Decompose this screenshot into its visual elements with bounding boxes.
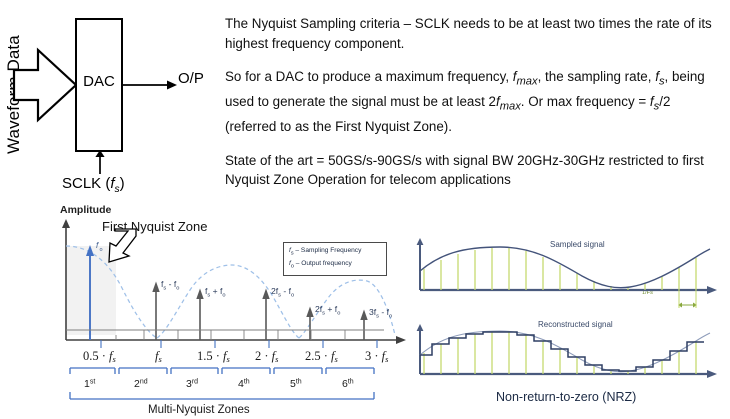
- zone-label-4: 4th: [238, 378, 250, 390]
- paragraph-dac-max-frequency: So for a DAC to produce a maximum freque…: [225, 67, 725, 137]
- reconstructed-ideal-sine: [420, 331, 710, 372]
- multi-nyquist-zone-chart: Amplitude First Nyquist Zone fs – Sampli…: [40, 202, 415, 419]
- spike-label-2fs-plus-fo: 2fs + fo: [315, 304, 340, 316]
- sclk-text: SCLK (: [62, 175, 110, 192]
- spike-label-2fs-minus-fo: 2fs - fo: [271, 286, 294, 298]
- callout-arrow-icon: [109, 229, 136, 262]
- zone-label-5: 5th: [290, 378, 302, 390]
- reconstructed-signal-panel: Reconstructed signal Non-return-to-zero …: [410, 312, 730, 419]
- p2-fmax-sub: max: [517, 76, 538, 88]
- p2-seg-d: . Or max frequency =: [521, 94, 650, 109]
- zone-ordinal-labels: 1st 2nd 3rd 4th 5th 6th: [84, 378, 354, 390]
- zone-brackets: [70, 368, 374, 374]
- x-axis-tick-labels: 0.5 · fs fs 1.5 · fs 2 · fs 2.5 · fs 3 ·…: [83, 349, 389, 364]
- sampled-signal-plot: [410, 228, 730, 323]
- sample-period-bracket: [678, 290, 697, 308]
- spike-2fs-minus-fo: [262, 289, 269, 341]
- tick-label-5: 3 · fs: [365, 349, 389, 364]
- zone-label-2: 2nd: [134, 378, 148, 390]
- zone-boundary-lines: [116, 330, 345, 340]
- tick-label-4: 2.5 · fs: [305, 349, 339, 364]
- y-axis-arrowhead-icon: [62, 219, 70, 228]
- sampled-y-arrowhead-icon: [417, 238, 424, 245]
- spike-fs-minus-fo: [152, 282, 159, 341]
- sample-lines: [424, 248, 696, 290]
- output-label: O/P: [178, 70, 204, 87]
- sampled-signal-panel: Sampled signal 1/Fs: [410, 228, 730, 323]
- spike-label-3fs-minus-fo: 3fs - fo: [369, 307, 392, 319]
- x-axis-arrowhead-icon: [396, 336, 406, 344]
- x-axis-ticks: [101, 340, 377, 348]
- sampled-sine-curve: [420, 247, 710, 288]
- nrz-caption: Non-return-to-zero (NRZ): [496, 390, 636, 404]
- p2-fmax2-sub: max: [500, 101, 521, 113]
- clock-arrow-icon: [93, 150, 107, 174]
- spike-2fs-plus-fo: [306, 307, 313, 341]
- multi-nyquist-bracket: [70, 392, 374, 399]
- sclk-label: SCLK (fs): [62, 175, 125, 195]
- spike-3fs-minus-fo: [360, 310, 367, 341]
- paragraph-state-of-the-art: State of the art = 50GS/s-90GS/s with si…: [225, 151, 725, 190]
- reconstructed-signal-plot: [410, 312, 730, 392]
- sclk-paren: ): [120, 175, 125, 192]
- multi-nyquist-zones-label: Multi-Nyquist Zones: [148, 404, 250, 416]
- dac-block-diagram: Waveform Data DAC O/P SCLK (fs): [0, 0, 215, 200]
- p2-seg-a: So for a DAC to produce a maximum freque…: [225, 69, 513, 84]
- tick-label-1: fs: [155, 349, 162, 364]
- reconstructed-y-arrowhead-icon: [417, 324, 424, 331]
- p2-seg-b: , the sampling rate,: [538, 69, 656, 84]
- spike-label-fo-sub: o: [100, 247, 103, 253]
- nyquist-plot-area: f o fs - fo fs + fo 2fs - fo 2fs + fo 3f…: [40, 202, 415, 419]
- spike-fs-plus-fo: [196, 289, 203, 341]
- zone-label-1: 1st: [84, 378, 95, 390]
- zone-label-6: 6th: [342, 378, 354, 390]
- output-arrow-icon: [123, 79, 178, 91]
- zone-label-3: 3rd: [186, 378, 198, 390]
- explanation-text: The Nyquist Sampling criteria – SCLK nee…: [225, 14, 725, 190]
- reconstructed-x-arrowhead-icon: [707, 370, 717, 378]
- input-arrow-icon: [12, 48, 78, 122]
- paragraph-nyquist-criteria: The Nyquist Sampling criteria – SCLK nee…: [225, 14, 725, 53]
- dac-label: DAC: [75, 73, 123, 90]
- spike-label-fs-plus-fo: fs + fo: [205, 286, 226, 298]
- sampled-x-arrowhead-icon: [707, 286, 717, 294]
- tick-label-0: 0.5 · fs: [83, 349, 117, 364]
- spike-label-fs-minus-fo: fs - fo: [161, 279, 179, 291]
- tick-label-2: 1.5 · fs: [197, 349, 231, 364]
- tick-label-3: 2 · fs: [255, 349, 279, 364]
